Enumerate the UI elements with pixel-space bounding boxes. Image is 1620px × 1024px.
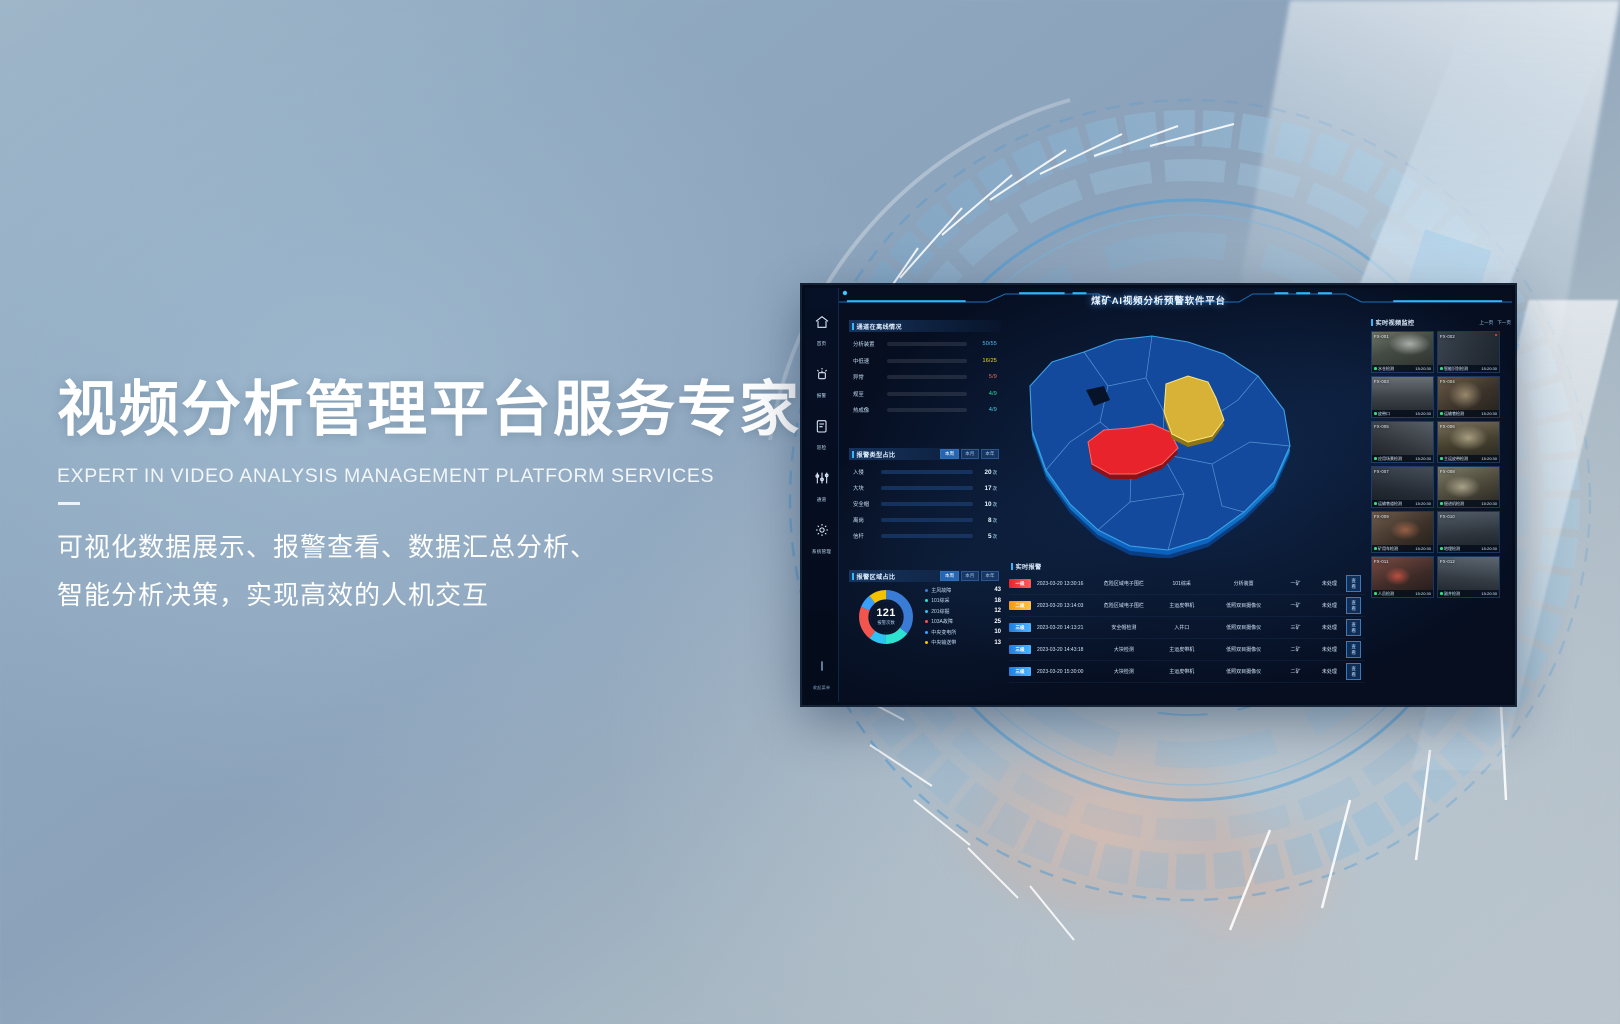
alarm-type-track [881,502,973,506]
video-footer: 应用场景检测 15:20:30 [1372,455,1433,462]
channel-progress-track [887,408,967,412]
legend-dot-icon [925,631,928,634]
video-grid: FX-001 水仓检测 15:20:30 FX-002 智能识别检测 15:20… [1371,331,1512,598]
legend-value: 43 [987,587,1001,593]
donut-legend: 主风故障 43 101综采 18 201综掘 12 [917,585,1001,648]
alarm-status: 未处理 [1312,624,1346,631]
alarm-mine: 一矿 [1279,602,1313,609]
video-time: 15:20:30 [1481,366,1497,371]
legend-value: 25 [987,619,1001,625]
channel-status-rows: 分析装置 50/55 中低速 16/25 异常 [849,332,1001,419]
video-footer: 掘进机检测 15:20:30 [1438,500,1499,507]
legend-value: 12 [987,608,1001,614]
online-status-icon [1374,367,1377,370]
video-name: 运输巷检测 [1444,411,1464,417]
channel-status-header: 通道在离线情况 [849,320,1001,332]
alarm-type-row: 大块 17次 [853,480,997,496]
alarm-type-label: 信杆 [853,532,881,540]
alarm-type-value: 20次 [973,469,997,476]
legend-label: 中央变电所 [931,629,987,636]
video-id: FX-009 [1374,514,1389,519]
alarm-time: 2023-03-20 14:13:21 [1031,625,1093,631]
table-row[interactable]: 三级 2023-03-20 15:30:00 大块检测 主运皮带机 低照双目摄像… [1009,661,1365,683]
video-id: FX-004 [1440,379,1455,384]
alarm-type-value: 8次 [973,517,997,524]
dashboard-title: 煤矿AI视频分析预警软件平台 [805,293,1512,307]
video-id: FX-005 [1374,424,1389,429]
donut-total-label: 报警次数 [877,620,895,626]
legend-item: 主风故障 43 [925,585,1001,596]
alarm-type: 危险区域电子围栏 [1093,580,1155,587]
channel-row-value: 16/25 [967,358,997,364]
alarm-area-tabs: 本周 本月 本年 [940,571,1001,581]
video-name: 水仓检测 [1378,366,1394,372]
status-badge: 三级 [1009,623,1031,632]
alarm-action-cell: 查看 [1346,641,1365,659]
online-status-icon [1440,592,1443,595]
view-button[interactable]: 查看 [1346,663,1361,679]
alarm-type-track [881,486,973,490]
alarm-time: 2023-03-20 13:14:03 [1031,603,1093,609]
video-tile[interactable]: FX-009 矿用车检测 15:20:30 [1371,511,1434,553]
table-row[interactable]: 三级 2023-03-20 14:43:18 大块检测 主运皮带机 低照双目摄像… [1009,639,1365,661]
video-tile[interactable]: FX-007 运输巷道检测 15:20:30 [1371,466,1434,508]
alarm-location: 主运皮带机 [1155,646,1209,653]
video-name: 掘进机检测 [1444,501,1464,507]
collapse-icon [814,658,830,674]
view-button[interactable]: 查看 [1346,619,1361,635]
online-status-icon [1374,457,1377,460]
video-time: 15:20:30 [1481,501,1497,506]
video-id: FX-002 [1440,334,1455,339]
dashboard-sidebar: 首页 报警 巡检 [805,288,839,702]
video-footer: 皮带口 15:20:30 [1372,410,1433,417]
alarm-type-label: 安全帽 [853,500,881,508]
alarm-device: 低照双目摄像仪 [1209,624,1279,631]
alarm-action-cell: 查看 [1346,663,1365,681]
page-subtitle: EXPERT IN VIDEO ANALYSIS MANAGEMENT PLAT… [57,465,817,488]
alarm-area-panel: 报警区域占比 本周 本月 本年 [849,570,1001,648]
video-name: 人员检测 [1378,591,1394,597]
status-badge: 三级 [1009,645,1031,654]
home-icon [814,314,830,330]
video-name: 皮带口 [1378,411,1390,417]
legend-item: 103A故障 25 [925,617,1001,628]
sidebar-item-channel[interactable]: 通道 [805,470,838,506]
dashboard-monitor: 首页 报警 巡检 [802,285,1515,705]
tab-this-week[interactable]: 本周 [940,571,958,581]
alarm-device: 分析装置 [1209,580,1279,587]
video-time: 15:20:30 [1481,546,1497,551]
status-badge: 三级 [1009,667,1031,676]
alarm-type-row: 信杆 5次 [853,528,997,544]
legend-dot-icon [925,610,928,613]
legend-item: 201综掘 12 [925,606,1001,617]
video-pagination: 上一页 下一页 [1479,320,1512,326]
alarm-type: 大块检测 [1093,646,1155,653]
legend-value: 10 [987,629,1001,635]
alarm-mine: 二矿 [1279,646,1313,653]
alarm-status: 未处理 [1312,668,1346,675]
online-status-icon [1374,502,1377,505]
channel-icon [814,470,830,486]
alarm-type-rows: 入侵 20次 大块 17次 安全帽 10次 离岗 8次 [849,460,1001,544]
legend-label: 101综采 [931,597,987,604]
alarm-area-header: 报警区域占比 本周 本月 本年 [849,570,1001,582]
online-status-icon [1374,412,1377,415]
alarm-type-row: 安全帽 10次 [853,496,997,512]
donut-center: 121 报警次数 [855,586,917,648]
video-tile[interactable]: FX-012 副井检测 15:20:30 [1437,556,1500,598]
province-map[interactable] [1009,316,1309,558]
alarm-type-header: 报警类型占比 本周 本月 本年 [849,448,1001,460]
alarm-type-label: 大块 [853,484,881,492]
online-status-icon [1440,502,1443,505]
legend-value: 13 [987,640,1001,646]
video-footer: 运输巷检测 15:20:30 [1438,410,1499,417]
status-badge: 一级 [1009,579,1031,588]
realtime-alarm-header: 实时报警 [1009,562,1365,571]
channel-row-label: 中低速 [853,357,887,365]
legend-label: 主风故障 [931,587,987,594]
ribbon-decoration-1 [1357,0,1620,290]
video-time: 15:20:30 [1481,456,1497,461]
next-page-button[interactable]: 下一页 [1497,320,1511,326]
accent-bar-icon [1371,319,1373,326]
channel-row-label: 异常 [853,373,887,381]
legend-item: 中央输送带 13 [925,638,1001,649]
online-status-icon [1374,592,1377,595]
video-id: FX-006 [1440,424,1455,429]
hero-blurb-line-1: 可视化数据展示、报警查看、数据汇总分析、 [57,523,817,571]
channel-row-label: 规至 [853,390,887,398]
video-tile[interactable]: FX-002 智能识别检测 15:20:30 [1437,331,1500,373]
video-footer: 地埋检测 15:20:30 [1438,545,1499,552]
sidebar-item-system[interactable]: 系统管理 [805,522,838,558]
video-footer: 矿用车检测 15:20:30 [1372,545,1433,552]
video-footer: 副井检测 15:20:30 [1438,590,1499,597]
alarm-type-track [881,534,973,538]
channel-row: 中低速 16/25 [853,353,997,370]
video-id: FX-008 [1440,469,1455,474]
alarm-type-row: 入侵 20次 [853,464,997,480]
alarm-type-row: 离岗 8次 [853,512,997,528]
tab-this-year[interactable]: 本年 [981,571,999,581]
gear-icon [814,522,830,538]
video-tile[interactable]: FX-010 地埋检测 15:20:30 [1437,511,1500,553]
video-name: 副井检测 [1444,591,1460,597]
channel-row-label: 分析装置 [853,340,887,348]
realtime-alarm-title: 实时报警 [1016,562,1042,571]
alarm-action-cell: 查看 [1346,619,1365,637]
online-status-icon [1374,547,1377,550]
video-footer: 智能识别检测 15:20:30 [1438,365,1499,372]
online-status-icon [1440,457,1443,460]
video-footer: 人员检测 15:20:30 [1372,590,1433,597]
video-id: FX-007 [1374,469,1389,474]
alarm-device: 低照双目摄像仪 [1209,602,1279,609]
channel-status-panel: 通道在离线情况 分析装置 50/55 中低速 16/25 [849,320,1001,419]
alarm-action-cell: 查看 [1346,575,1365,593]
alarm-area-title: 报警区域占比 [857,572,896,581]
legend-label: 103A故障 [931,618,987,625]
sidebar-collapse-button[interactable]: 收起菜单 [805,658,838,694]
alarm-device: 低照双目摄像仪 [1209,646,1279,653]
alarm-type-panel: 报警类型占比 本周 本月 本年 入侵 20次 大块 17次 [849,448,1001,544]
video-tile[interactable]: FX-006 主运皮带检测 15:20:30 [1437,421,1500,463]
sidebar-item-home-label: 首页 [817,341,827,346]
tab-this-week[interactable]: 本周 [940,449,958,459]
alarm-location: 101综采 [1155,580,1209,587]
page-title: 视频分析管理平台服务专家 [57,376,817,443]
video-time: 15:20:30 [1415,591,1431,596]
alarm-type-title: 报警类型占比 [857,450,896,459]
video-name: 地埋检测 [1444,546,1460,552]
online-status-icon [1440,547,1443,550]
video-name: 应用场景检测 [1378,456,1402,462]
channel-row-value: 50/55 [967,341,997,347]
video-id: FX-010 [1440,514,1455,519]
video-time: 15:20:30 [1481,591,1497,596]
channel-progress-track [887,392,967,396]
legend-label: 中央输送带 [931,639,987,646]
alarm-type-value: 5次 [973,533,997,540]
accent-bar-icon [852,573,854,580]
alarm-type-track [881,470,973,474]
channel-row-label: 热成像 [853,406,887,414]
legend-dot-icon [925,589,928,592]
channel-row-value: 4/9 [967,391,997,397]
tab-this-month[interactable]: 本月 [961,571,979,581]
realtime-alarm-panel: 实时报警 一级 2023-03-20 13:30:16 危险区域电子围栏 101… [1009,562,1365,683]
alarm-action-cell: 查看 [1346,597,1365,615]
alarm-mine: 一矿 [1279,580,1313,587]
alarm-type: 大块检测 [1093,668,1155,675]
alarm-time: 2023-03-20 14:43:18 [1031,647,1093,653]
alarm-mine: 三矿 [1279,624,1313,631]
alarm-mine: 二矿 [1279,668,1313,675]
alarm-type-value: 10次 [973,501,997,508]
donut-chart: 121 报警次数 [855,586,917,648]
dashboard-screen: 首页 报警 巡检 [805,288,1512,702]
legend-item: 中央变电所 10 [925,627,1001,638]
sidebar-item-inspection-label: 巡检 [817,445,827,450]
online-status-icon [1440,367,1443,370]
video-time: 15:20:30 [1415,366,1431,371]
channel-status-title: 通道在离线情况 [857,322,902,331]
video-name: 运输巷道检测 [1378,501,1402,507]
video-monitor-panel: 实时视频监控 上一页 下一页 FX-001 水仓检测 15:20:30 [1371,318,1512,598]
video-tile[interactable]: FX-005 应用场景检测 15:20:30 [1371,421,1434,463]
video-tile[interactable]: FX-004 运输巷检测 15:20:30 [1437,376,1500,418]
video-tile[interactable]: FX-008 掘进机检测 15:20:30 [1437,466,1500,508]
divider-rule [58,502,80,505]
alarm-type-track [881,518,973,522]
accent-bar-icon [1011,563,1013,570]
alarm-area-chart: 121 报警次数 主风故障 43 101综采 18 [849,582,1001,648]
channel-progress-track [887,359,967,363]
alarm-time: 2023-03-20 13:30:16 [1031,581,1093,587]
channel-progress-track [887,342,967,346]
status-badge: 二级 [1009,601,1031,610]
alarm-device: 低照双目摄像仪 [1209,668,1279,675]
alarm-type: 危险区域电子围栏 [1093,602,1155,609]
alarm-icon [814,366,830,382]
alarm-type: 安全帽检测 [1093,624,1155,631]
video-name: 矿用车检测 [1378,546,1398,552]
channel-row: 热成像 4/9 [853,402,997,419]
sidebar-collapse-label: 收起菜单 [813,685,831,690]
alarm-type-label: 离岗 [853,516,881,524]
hero-copy: 视频分析管理平台服务专家 EXPERT IN VIDEO ANALYSIS MA… [57,376,817,619]
video-time: 15:20:30 [1415,501,1431,506]
legend-label: 201综掘 [931,608,987,615]
video-time: 15:20:30 [1415,456,1431,461]
alarm-time: 2023-03-20 15:30:00 [1031,669,1093,675]
online-status-icon [1440,412,1443,415]
realtime-alarm-table: 一级 2023-03-20 13:30:16 危险区域电子围栏 101综采 分析… [1009,573,1365,683]
video-time: 15:20:30 [1481,411,1497,416]
video-tile[interactable]: FX-011 人员检测 15:20:30 [1371,556,1434,598]
video-monitor-title: 实时视频监控 [1376,318,1415,327]
alarm-type-tabs: 本周 本月 本年 [940,449,1001,459]
video-id: FX-011 [1374,559,1389,564]
tab-this-month[interactable]: 本月 [961,449,979,459]
video-name: 主运皮带检测 [1444,456,1468,462]
sidebar-item-channel-label: 通道 [817,497,827,502]
video-footer: 水仓检测 15:20:30 [1372,365,1433,372]
channel-row: 分析装置 50/55 [853,336,997,353]
channel-row: 规至 4/9 [853,386,997,403]
channel-row-value: 5/9 [967,374,997,380]
accent-bar-icon [852,451,854,458]
legend-dot-icon [925,620,928,623]
legend-item: 101综采 18 [925,596,1001,607]
alarm-status: 未处理 [1312,646,1346,653]
sidebar-item-inspection[interactable]: 巡检 [805,418,838,454]
sidebar-item-alarm[interactable]: 报警 [805,366,838,402]
sidebar-item-alarm-label: 报警 [817,393,827,398]
channel-row-value: 4/9 [967,407,997,413]
view-button[interactable]: 查看 [1346,641,1361,657]
alarm-location: 入井口 [1155,624,1209,631]
alarm-status: 未处理 [1312,602,1346,609]
legend-dot-icon [925,641,928,644]
alarm-type-value: 17次 [973,485,997,492]
view-button[interactable]: 查看 [1346,575,1361,591]
video-time: 15:20:30 [1415,411,1431,416]
accent-bar-icon [852,323,854,330]
legend-value: 18 [987,598,1001,604]
view-button[interactable]: 查看 [1346,597,1361,613]
video-id: FX-001 [1374,334,1389,339]
table-row[interactable]: 二级 2023-03-20 13:14:03 危险区域电子围栏 主运皮带机 低照… [1009,595,1365,617]
donut-total-value: 121 [876,607,895,619]
blurred-hand-photo [880,690,1500,1024]
legend-dot-icon [925,599,928,602]
sidebar-item-home[interactable]: 首页 [805,314,838,350]
alarm-location: 主运皮带机 [1155,668,1209,675]
hero-blurb-line-2: 智能分析决策，实现高效的人机交互 [57,571,817,619]
prev-page-button[interactable]: 上一页 [1479,320,1493,326]
video-name: 智能识别检测 [1444,366,1468,372]
video-tile[interactable]: FX-001 水仓检测 15:20:30 [1371,331,1434,373]
video-id: FX-003 [1374,379,1389,384]
video-tile[interactable]: FX-003 皮带口 15:20:30 [1371,376,1434,418]
clipboard-icon [814,418,830,434]
channel-progress-track [887,375,967,379]
table-row[interactable]: 一级 2023-03-20 13:30:16 危险区域电子围栏 101综采 分析… [1009,573,1365,595]
sidebar-item-system-label: 系统管理 [812,549,831,554]
alarm-status: 未处理 [1312,580,1346,587]
tab-this-year[interactable]: 本年 [981,449,999,459]
video-time: 15:20:30 [1415,546,1431,551]
video-footer: 运输巷道检测 15:20:30 [1372,500,1433,507]
channel-row: 异常 5/9 [853,369,997,386]
alarm-type-label: 入侵 [853,468,881,476]
video-monitor-header: 实时视频监控 上一页 下一页 [1371,318,1512,327]
alarm-location: 主运皮带机 [1155,602,1209,609]
video-footer: 主运皮带检测 15:20:30 [1438,455,1499,462]
video-id: FX-012 [1440,559,1455,564]
table-row[interactable]: 三级 2023-03-20 14:13:21 安全帽检测 入井口 低照双目摄像仪… [1009,617,1365,639]
